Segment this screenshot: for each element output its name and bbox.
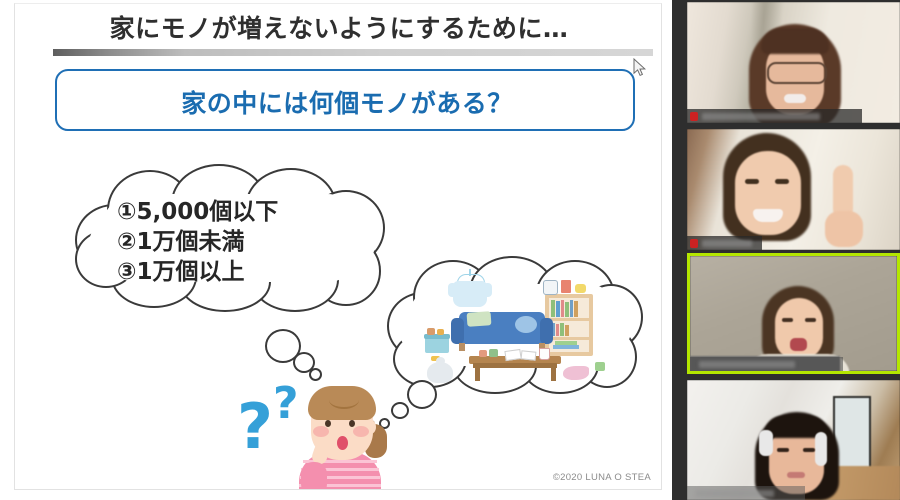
- participant-mouth: [787, 472, 805, 478]
- book: [565, 302, 569, 317]
- hanger-hook: [469, 269, 471, 276]
- participant-open-mouth: [790, 338, 807, 351]
- thinking-woman-illustration: [291, 386, 395, 490]
- participant-name-label: [699, 361, 795, 368]
- shirt-sleeve-left: [448, 283, 457, 297]
- character-hair-part: [329, 391, 359, 409]
- coffee-table-leg: [551, 367, 556, 381]
- participant-tile[interactable]: [687, 129, 900, 250]
- thought-tail-bubble: [309, 368, 322, 381]
- mouse-cursor-arrow-icon: [633, 58, 647, 83]
- hanging-shirt-icon: [453, 281, 487, 307]
- participant-tile[interactable]: [687, 380, 900, 500]
- participant-mouth: [784, 94, 806, 103]
- character-cheek: [353, 426, 369, 437]
- slide-title: 家にモノが増えないようにするために…: [15, 9, 662, 45]
- answer-option: ③1万個以上: [117, 258, 278, 288]
- participant-eye: [775, 179, 789, 184]
- book: [560, 323, 564, 336]
- table-item: [489, 349, 498, 357]
- participant-name-label: [702, 240, 752, 247]
- participant-smile: [753, 209, 783, 222]
- garbage-bag-tie: [436, 357, 445, 365]
- sofa-arm-right: [540, 318, 553, 344]
- shared-slide-area[interactable]: 家にモノが増えないようにするために… 家の中には何個モノがある？: [0, 0, 672, 500]
- sofa-cushion-blue: [515, 316, 537, 333]
- participant-bangs: [761, 28, 829, 54]
- character-sleeve: [301, 462, 327, 490]
- book-stack: [553, 345, 579, 349]
- character-eye: [325, 420, 331, 427]
- participant-name-bar: [690, 357, 843, 371]
- book: [556, 301, 560, 317]
- participant-glasses: [767, 62, 827, 84]
- hand: [825, 211, 863, 247]
- participant-tile-active-speaker[interactable]: [687, 253, 900, 374]
- answer-option: ①5,000個以下: [117, 198, 278, 228]
- coffee-table-leg: [475, 367, 480, 381]
- alarm-clock-icon: [543, 280, 558, 295]
- toy: [437, 329, 444, 335]
- participants-video-panel[interactable]: [672, 0, 900, 500]
- screen-root: 家にモノが増えないようにするために… 家の中には何個モノがある？: [0, 0, 900, 500]
- bookshelf-inner-top: [549, 298, 589, 318]
- participant-eye: [803, 448, 815, 452]
- cup: [539, 348, 550, 360]
- participant-name-label: [702, 113, 820, 120]
- mic-muted-icon: [690, 112, 698, 121]
- participant-eye: [777, 448, 789, 452]
- participant-name-bar: [687, 486, 805, 500]
- character-cheek: [313, 426, 329, 437]
- participant-name-label: [696, 490, 774, 497]
- shelf-item: [575, 284, 586, 293]
- character-eye: [349, 420, 355, 427]
- participant-eye: [805, 318, 816, 322]
- mic-muted-icon: [690, 239, 698, 248]
- floor-item: [595, 362, 605, 371]
- coffee-table-apron: [473, 363, 557, 368]
- answer-option: ②1万個未満: [117, 228, 278, 258]
- question-callout-box: 家の中には何個モノがある？: [55, 69, 635, 131]
- headset-mic-icon: [815, 432, 827, 466]
- bookshelf-inner-mid: [549, 321, 589, 337]
- book-stack: [555, 341, 577, 345]
- participant-name-bar: [687, 236, 762, 250]
- book: [570, 300, 573, 317]
- floor-clothes: [563, 366, 589, 380]
- participant-face: [735, 151, 801, 235]
- question-text: 家の中には何個モノがある？: [57, 84, 637, 120]
- toy: [427, 328, 435, 335]
- sofa-cushion-green: [467, 311, 492, 327]
- book: [565, 325, 569, 336]
- headset-icon: [759, 430, 773, 456]
- book: [551, 300, 555, 317]
- participant-eye: [745, 179, 759, 184]
- participant-eye: [782, 318, 793, 322]
- title-divider-rule: [53, 49, 653, 56]
- presentation-slide[interactable]: 家にモノが増えないようにするために… 家の中には何個モノがある？: [14, 3, 662, 490]
- answer-options-list: ①5,000個以下 ②1万個未満 ③1万個以上: [117, 198, 278, 288]
- sofa-arm-left: [451, 318, 464, 344]
- participant-tile[interactable]: [687, 2, 900, 123]
- sofa-leg: [459, 343, 465, 351]
- question-mark-large-icon: ?: [237, 396, 273, 458]
- book: [556, 324, 559, 336]
- shirt-sleeve-right: [483, 283, 492, 297]
- sofa-seat: [453, 326, 551, 344]
- participant-name-bar: [687, 109, 862, 123]
- character-mouth: [337, 436, 348, 450]
- shelf-box: [561, 280, 571, 293]
- book: [561, 300, 564, 317]
- copyright-notice: ©2020 LUNA O STEA: [553, 472, 651, 483]
- garbage-bag: [427, 362, 453, 383]
- cluttered-room-illustration: [423, 274, 613, 386]
- options-thought-bubble: ①5,000個以下 ②1万個未満 ③1万個以上: [75, 164, 385, 314]
- scattered-paper: [521, 350, 537, 361]
- table-item: [479, 350, 487, 357]
- book: [574, 301, 578, 317]
